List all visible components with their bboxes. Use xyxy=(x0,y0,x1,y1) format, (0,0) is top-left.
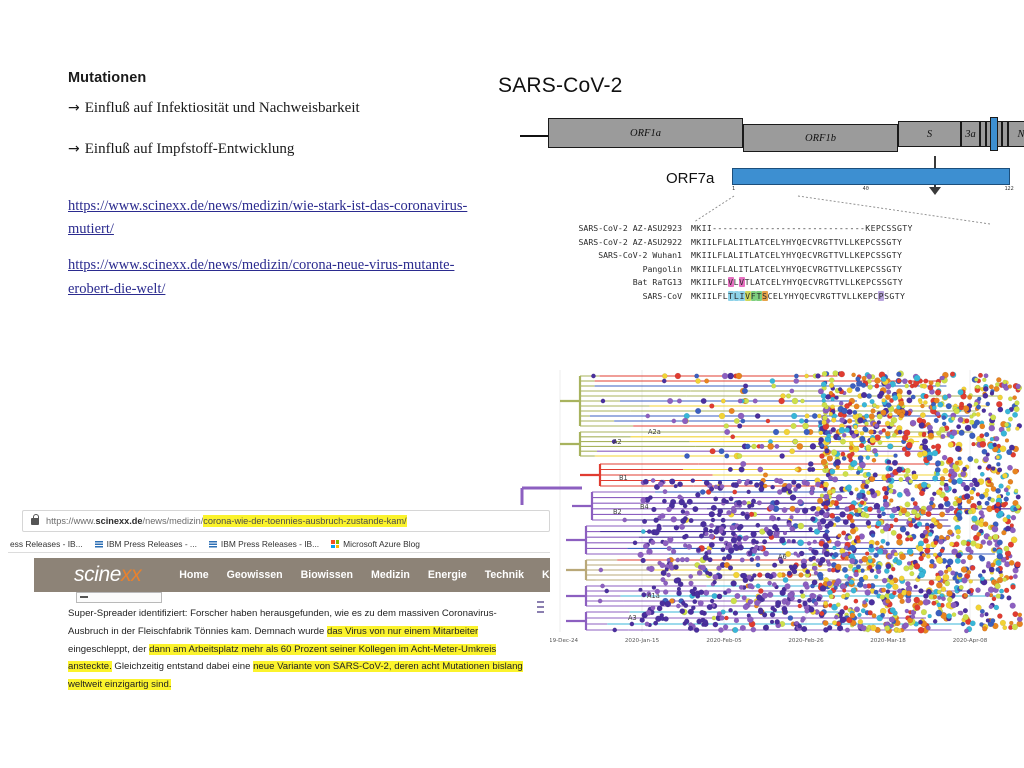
alignment-row: Bat RaTG13MKIILFLVLVTLATCELYHYQECVRGTTVL… xyxy=(524,276,913,290)
alignment-row-sequence: MKIILFLALITLATCELYHYQECVRGTTVLLKEPCSSGTY xyxy=(682,250,902,260)
url-path: /news/medizin/ xyxy=(143,516,204,526)
presentation-slide: Mutationen →Einfluß auf Infektiosität un… xyxy=(0,0,1024,768)
alignment-row-name: Pangolin xyxy=(524,263,682,277)
alignment-row: SARS-CoV-2 Wuhan1MKIILFLALITLATCELYHYQEC… xyxy=(524,249,913,263)
axis-tick-label: 2020-Mar-18 xyxy=(870,638,906,644)
page-title: Mutationen xyxy=(68,70,488,86)
gene-box-n: N xyxy=(1008,121,1024,147)
url-highlighted-slug: corona-wie-der-toennies-ausbruch-zustand… xyxy=(203,515,406,527)
axis-tick-label: 2020-Jan-15 xyxy=(625,638,659,644)
alignment-row-sequence: MKIILFLTLIVFTSCELYHYQECVRGTTVLLKEPCPSGTY xyxy=(682,291,905,301)
tree-time-axis: 2019-Dec-242020-Jan-152020-Feb-052020-Fe… xyxy=(520,638,1024,650)
scale-tick: 40 xyxy=(863,186,869,192)
ibm-icon xyxy=(209,541,217,548)
alignment-row-name: Bat RaTG13 xyxy=(524,276,682,290)
sequence-alignment: SARS-CoV-2 AZ-ASU2923MKII---------------… xyxy=(524,222,913,304)
clade-label-b2: B2 xyxy=(613,508,622,516)
alignment-row: SARS-CoVMKIILFLTLIVFTSCELYHYQECVRGTTVLLK… xyxy=(524,290,913,304)
gene-box-s: S xyxy=(898,121,961,147)
bookmark-item[interactable]: Microsoft Azure Blog xyxy=(331,539,420,549)
nav-item-home[interactable]: Home xyxy=(179,569,208,581)
bookmark-item[interactable]: IBM Press Releases - ... xyxy=(95,539,197,549)
lock-icon xyxy=(31,518,39,525)
axis-tick-label: 2020-Feb-26 xyxy=(788,638,823,644)
article-highlight: das Virus von nur einem Mitarbeiter xyxy=(327,626,478,637)
arrow-icon: → xyxy=(68,141,85,157)
bookmark-label: IBM Press Releases - IB... xyxy=(221,539,319,549)
tree-canvas xyxy=(520,370,1024,638)
bookmark-label: IBM Press Releases - ... xyxy=(107,539,197,549)
bookmark-label: Microsoft Azure Blog xyxy=(343,539,420,549)
link-list: https://www.scinexx.de/news/medizin/wie-… xyxy=(68,195,488,302)
alignment-row: SARS-CoV-2 AZ-ASU2922MKIILFLALITLATCELYH… xyxy=(524,236,913,250)
article-body: Super-Spreader identifiziert: Forscher h… xyxy=(68,605,536,694)
ibm-icon xyxy=(95,541,103,548)
clade-label-b1: B1 xyxy=(619,474,628,482)
scinexx-logo[interactable]: scinexx xyxy=(34,563,141,587)
microsoft-icon xyxy=(331,540,339,548)
clade-label-b4: B4 xyxy=(640,503,649,511)
clade-label-a2a: A2a xyxy=(648,428,661,436)
site-header: scinexx HomeGeowissenBiowissenMedizinEne… xyxy=(34,558,550,592)
alignment-row: SARS-CoV-2 AZ-ASU2923MKII---------------… xyxy=(524,222,913,236)
bookmarks-bar[interactable]: ess Releases - IB...IBM Press Releases -… xyxy=(8,536,550,553)
bullet-text: Einfluß auf Infektiosität und Nachweisba… xyxy=(85,100,360,116)
bullet-item: →Einfluß auf Impfstoff-Entwicklung xyxy=(68,140,488,159)
arrow-icon: → xyxy=(68,100,85,116)
orf7a-label: ORF7a xyxy=(666,170,714,187)
bullet-text: Einfluß auf Impfstoff-Entwicklung xyxy=(85,141,295,157)
clade-label-a6: A6 xyxy=(778,553,787,561)
source-link-2[interactable]: https://www.scinexx.de/news/medizin/coro… xyxy=(68,254,488,301)
orf7a-scale: 140122 xyxy=(732,186,1010,196)
nav-item-geowissen[interactable]: Geowissen xyxy=(227,569,283,581)
bullet-item: →Einfluß auf Infektiosität und Nachweisb… xyxy=(68,99,488,118)
axis-tick-label: 2020-Feb-05 xyxy=(706,638,741,644)
address-bar[interactable]: https://www.scinexx.de/news/medizin/coro… xyxy=(22,510,550,532)
alignment-row-sequence: MKIILFLVLVTLATCELYHYQECVRGTTVLLKEPCSSGTY xyxy=(682,277,903,287)
clade-label-a1a: A1a xyxy=(647,592,660,600)
scale-tick: 122 xyxy=(1004,186,1013,192)
scrollbar[interactable] xyxy=(537,601,544,623)
axis-tick-label: 2020-Apr-08 xyxy=(953,638,988,644)
logo-accent: xx xyxy=(121,563,141,586)
alignment-row-sequence: MKIILFLALITLATCELYHYQECVRGTTVLLKEPCSSGTY xyxy=(682,237,902,247)
site-navigation[interactable]: HomeGeowissenBiowissenMedizinEnergieTech… xyxy=(141,569,550,581)
alignment-row-name: SARS-CoV-2 Wuhan1 xyxy=(524,249,682,263)
logo-main: scine xyxy=(74,563,121,586)
bookmark-item[interactable]: ess Releases - IB... xyxy=(10,539,83,549)
alignment-row-name: SARS-CoV xyxy=(524,290,682,304)
phylogenetic-tree: 2019-Dec-242020-Jan-152020-Feb-052020-Fe… xyxy=(520,370,1024,652)
alignment-row-name: SARS-CoV-2 AZ-ASU2923 xyxy=(524,222,682,236)
url-domain: scinexx.de xyxy=(96,516,143,526)
nav-item-medizin[interactable]: Medizin xyxy=(371,569,410,581)
alignment-row-sequence: MKII-----------------------------KEPCSSG… xyxy=(682,223,913,233)
gene-box-orf1b: ORF1b xyxy=(743,124,898,152)
scale-tick: 1 xyxy=(732,186,735,192)
alignment-row-sequence: MKIILFLALITLATCELYHYQECVRGTTVLLKEPCSSGTY xyxy=(682,264,902,274)
gene-box-orf1a: ORF1a xyxy=(548,118,743,148)
clade-label-a2: A2 xyxy=(613,438,622,446)
nav-item-ko[interactable]: Ko xyxy=(542,569,550,581)
nav-item-biowissen[interactable]: Biowissen xyxy=(301,569,353,581)
genome-title: SARS-CoV-2 xyxy=(498,74,1010,98)
bookmark-label: ess Releases - IB... xyxy=(10,539,83,549)
browser-screenshot: https://www.scinexx.de/news/medizin/coro… xyxy=(8,505,550,717)
alignment-row: PangolinMKIILFLALITLATCELYHYQECVRGTTVLLK… xyxy=(524,263,913,277)
nav-item-energie[interactable]: Energie xyxy=(428,569,467,581)
genome-map: ORF1aORF1bS3aN xyxy=(520,116,1010,156)
nav-item-technik[interactable]: Technik xyxy=(485,569,524,581)
bookmark-item[interactable]: IBM Press Releases - IB... xyxy=(209,539,319,549)
url-text: https://www.scinexx.de/news/medizin/coro… xyxy=(46,516,407,526)
orf7a-bar xyxy=(732,168,1010,185)
menu-widget[interactable] xyxy=(76,592,162,603)
clade-label-a3: A3 xyxy=(628,614,637,622)
article-text: eingeschleppt, der xyxy=(68,644,149,655)
article-text: Gleichzeitig entstand dabei eine xyxy=(112,661,253,672)
text-column: Mutationen →Einfluß auf Infektiosität un… xyxy=(68,70,488,304)
orf7a-highlight-box xyxy=(990,117,998,151)
gene-box-3a: 3a xyxy=(961,121,980,147)
url-prefix: https://www. xyxy=(46,516,96,526)
alignment-row-name: SARS-CoV-2 AZ-ASU2922 xyxy=(524,236,682,250)
source-link-1[interactable]: https://www.scinexx.de/news/medizin/wie-… xyxy=(68,195,488,242)
orf7a-detail: ORF7a 140122 xyxy=(666,168,1010,194)
